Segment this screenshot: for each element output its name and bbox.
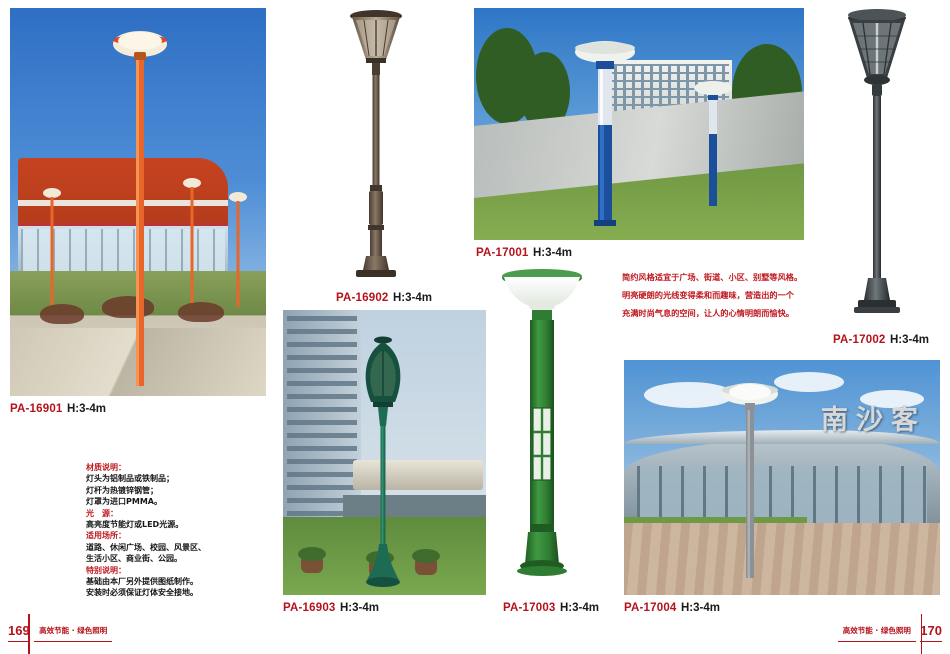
- lamp-pa-17002: [832, 4, 922, 322]
- product-label-pa-16901: PA-16901 H:3-4m: [10, 399, 106, 417]
- lamp-pa-17001-secondary: [692, 76, 734, 212]
- lamp-background-small: [228, 190, 248, 308]
- lamp-pa-17004: [718, 370, 782, 582]
- spec-line: 灯头为铝制品或铁制品；: [86, 473, 226, 484]
- gutter-line-left: [28, 614, 30, 654]
- product-height: H:3-4m: [393, 292, 432, 304]
- page-number-left: 169: [8, 623, 30, 638]
- spec-line: 生活小区、商业街、公园。: [86, 553, 226, 564]
- footer-rule: [838, 641, 916, 643]
- product-height: H:3-4m: [560, 602, 599, 614]
- spec-line: 安装时必须保证灯体安全接地。: [86, 587, 226, 598]
- spec-heading-notes: 特别说明：: [86, 565, 226, 576]
- paved-plaza: [624, 523, 940, 595]
- spec-line: 灯杆为热镀锌钢管；: [86, 485, 226, 496]
- product-label-pa-17003: PA-17003 H:3-4m: [503, 598, 599, 616]
- lamp-pa-16902: [336, 4, 416, 282]
- footer-right: 高效节能 · 绿色照明 170: [838, 622, 942, 648]
- page-number-right: 170: [920, 623, 942, 638]
- product-photo-pa-16903: [283, 310, 486, 595]
- product-code: PA-17003: [503, 602, 556, 614]
- description-line: 充满时尚气息的空间，让人的心情明朗而愉快。: [622, 308, 817, 319]
- spec-line: 道路、休闲广场、校园、风景区、: [86, 542, 226, 553]
- product-photo-pa-16901: [10, 8, 266, 396]
- product-photo-pa-17001: [474, 8, 804, 240]
- description-line: 简约风格适宜于广场、街道、小区、别墅等风格。: [622, 272, 817, 283]
- product-label-pa-16902: PA-16902 H:3-4m: [336, 288, 432, 306]
- planter-pot: [301, 559, 323, 573]
- product-code: PA-16901: [10, 403, 63, 415]
- product-height: H:3-4m: [340, 602, 379, 614]
- lamp-background-small: [42, 186, 62, 306]
- product-photo-pa-17004: 南沙客: [624, 360, 940, 595]
- cloud: [774, 372, 844, 392]
- product-code: PA-17004: [624, 602, 677, 614]
- footer-left: 169 高效节能 · 绿色照明: [8, 622, 112, 648]
- description-line: 明亮硬朗的光线变得柔和而趣味，营造出的一个: [622, 290, 817, 301]
- footer-rule: [34, 641, 112, 643]
- spec-heading-material: 材质说明：: [86, 462, 226, 473]
- spec-heading-applications: 适用场所：: [86, 530, 226, 541]
- catalog-spread: PA-16901 H:3-4m PA-16902 H:3: [0, 0, 950, 654]
- lamp-pa-17001-main: [572, 30, 638, 230]
- gutter-line-right: [921, 614, 923, 654]
- product-height: H:3-4m: [67, 403, 106, 415]
- shrub: [178, 302, 224, 322]
- shrub: [40, 304, 84, 324]
- product-height: H:3-4m: [890, 334, 929, 346]
- product-height: H:3-4m: [681, 602, 720, 614]
- spec-heading-light-source: 光 源：: [86, 508, 226, 519]
- product-code: PA-16903: [283, 602, 336, 614]
- lamp-pa-16901: [110, 18, 170, 388]
- product-label-pa-16903: PA-16903 H:3-4m: [283, 598, 379, 616]
- footer-rule: [920, 641, 942, 643]
- lamp-background-small: [182, 176, 202, 304]
- spec-line: 高亮度节能灯或LED光源。: [86, 519, 226, 530]
- product-code: PA-16902: [336, 292, 389, 304]
- building-signage: 南沙客: [821, 398, 926, 437]
- product-code: PA-17002: [833, 334, 886, 346]
- footer-tagline: 高效节能 · 绿色照明: [838, 625, 916, 636]
- spec-line: 灯罩为进口PMMA。: [86, 496, 226, 507]
- product-label-pa-17004: PA-17004 H:3-4m: [624, 598, 720, 616]
- lamp-pa-17003: [496, 258, 588, 590]
- footer-tagline: 高效节能 · 绿色照明: [34, 625, 112, 636]
- lamp-pa-16903: [347, 330, 419, 592]
- specification-block: 材质说明： 灯头为铝制品或铁制品； 灯杆为热镀锌钢管； 灯罩为进口PMMA。 光…: [86, 462, 226, 599]
- footer-rule: [8, 641, 30, 643]
- product-label-pa-17002: PA-17002 H:3-4m: [833, 330, 929, 348]
- style-description: 简约风格适宜于广场、街道、小区、别墅等风格。 明亮硬朗的光线变得柔和而趣味，营造…: [622, 272, 817, 326]
- spec-line: 基础由本厂另外提供图纸制作。: [86, 576, 226, 587]
